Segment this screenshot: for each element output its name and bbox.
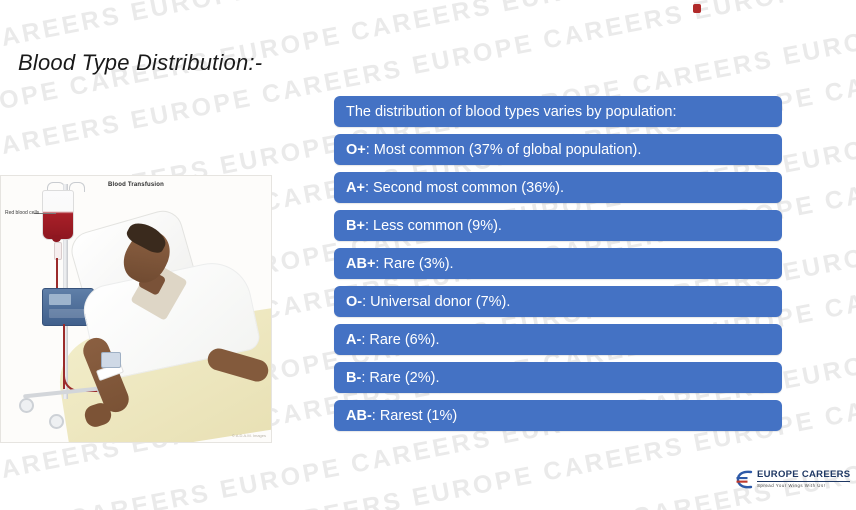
bullet-lead: AB+ — [346, 256, 375, 272]
list-item[interactable]: A-: Rare (6%). — [334, 324, 782, 355]
list-item[interactable]: AB-: Rarest (1%) — [334, 400, 782, 431]
bullet-lead: O- — [346, 294, 362, 310]
list-item[interactable]: AB+: Rare (3%). — [334, 248, 782, 279]
bullet-lead: B+ — [346, 218, 365, 234]
bullet-text: : Rarest (1%) — [372, 408, 457, 424]
bullet-text: : Rare (6%). — [361, 332, 439, 348]
list-item[interactable]: A+: Second most common (36%). — [334, 172, 782, 203]
watermark-line: EUROPE CAREERS EUROPE CAREERS EUROPE CAR… — [0, 0, 856, 94]
list-item[interactable]: O-: Universal donor (7%). — [334, 286, 782, 317]
caster-wheel-shape — [49, 414, 64, 429]
pump-buttons-shape — [49, 309, 85, 318]
illustration-caption: Blood Transfusion — [108, 182, 164, 188]
slide-canvas: EUROPE CAREERS EUROPE CAREERS EUROPE CAR… — [0, 0, 856, 510]
iv-tube-shape — [56, 258, 58, 288]
bullet-text: : Less common (9%). — [365, 218, 502, 234]
bullet-lead: A+ — [346, 180, 365, 196]
europe-careers-e-icon — [736, 470, 753, 489]
bullet-lead: AB- — [346, 408, 372, 424]
bullet-text: : Most common (37% of global population)… — [366, 142, 642, 158]
bullet-lead: A- — [346, 332, 361, 348]
bullet-list: The distribution of blood types varies b… — [334, 96, 782, 438]
bullet-text: : Second most common (36%). — [365, 180, 564, 196]
blood-bag-icon — [42, 190, 74, 240]
blood-bag-cap-shape — [52, 235, 61, 242]
page-title: Blood Type Distribution:- — [18, 50, 262, 76]
logo-name: EUROPE CAREERS — [757, 470, 850, 482]
logo-text-block: EUROPE CAREERS Spread Your Wings With Us… — [757, 470, 850, 488]
bullet-lead: O+ — [346, 142, 366, 158]
red-blood-cells-label: Red blood cells — [5, 210, 41, 217]
bullet-text: : Universal donor (7%). — [362, 294, 510, 310]
bullet-text: : Rare (3%). — [375, 256, 453, 272]
bullet-lead: B- — [346, 370, 361, 386]
list-item[interactable]: The distribution of blood types varies b… — [334, 96, 782, 127]
logo-tagline: Spread Your Wings With Us! — [757, 484, 850, 488]
watermark-line: EUROPE CAREERS EUROPE CAREERS EUROPE CAR… — [0, 442, 856, 510]
list-item[interactable]: O+: Most common (37% of global populatio… — [334, 134, 782, 165]
list-item[interactable]: B+: Less common (9%). — [334, 210, 782, 241]
iv-catheter-patch-shape — [101, 352, 121, 368]
list-item[interactable]: B-: Rare (2%). — [334, 362, 782, 393]
red-marker-dot — [693, 4, 701, 13]
caster-wheel-shape — [19, 398, 34, 413]
pump-screen-shape — [49, 294, 71, 305]
illustration-credit: © A.D.A.M. Images — [232, 433, 266, 438]
blood-transfusion-illustration: Blood Transfusion Red blood cells © A.D.… — [0, 175, 272, 443]
bullet-text: The distribution of blood types varies b… — [346, 104, 676, 120]
bullet-text: : Rare (2%). — [361, 370, 439, 386]
europe-careers-logo[interactable]: EUROPE CAREERS Spread Your Wings With Us… — [736, 466, 836, 492]
